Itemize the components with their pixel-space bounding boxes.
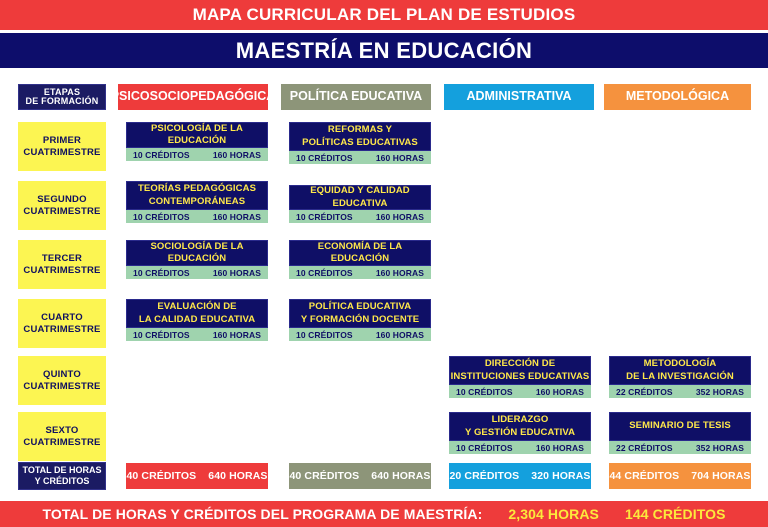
course-card-evaluacion-de-la-calidad-educativa[interactable]: EVALUACIÓN DE LA CALIDAD EDUCATIVA 10 CR… [126,299,268,341]
stage-segundo-cuatrimestre: SEGUNDO CUATRIMESTRE [18,181,106,230]
course-card-reformas-y-politicas-educativas[interactable]: REFORMAS Y POLÍTICAS EDUCATIVAS 10 CRÉDI… [289,122,431,164]
course-card-sociologia-de-la-educacion[interactable]: SOCIOLOGÍA DE LA EDUCACIÓN 10 CRÉDITOS 1… [126,240,268,279]
header-column-metodologica: METODOLÓGICA [604,84,751,110]
totals-hours: 320 HORAS [531,470,590,482]
course-hours: 160 HORAS [376,153,424,163]
totals-hours: 640 HORAS [208,470,267,482]
course-title-line1: DIRECCIÓN DE [451,358,590,370]
curriculum-map: MAPA CURRICULAR DEL PLAN DE ESTUDIOS MAE… [0,0,768,527]
stage-label-line1: TERCER [23,253,100,265]
program-totals-bar: TOTAL DE HORAS Y CRÉDITOS DEL PROGRAMA D… [0,501,768,527]
stage-label-line2: CUATRIMESTRE [23,437,100,449]
course-hours: 160 HORAS [213,268,261,278]
course-credits: 10 CRÉDITOS [296,268,353,278]
course-title-line1: ECONOMÍA DE LA EDUCACIÓN [290,241,430,266]
course-credits: 10 CRÉDITOS [456,443,513,453]
stage-label-line1: SEGUNDO [23,194,100,206]
totals-psicosociopedagogica: 40 CRÉDITOS 640 HORAS [126,463,268,489]
main-title-banner: MAPA CURRICULAR DEL PLAN DE ESTUDIOS [0,0,768,30]
stage-label-line2: CUATRIMESTRE [23,265,100,277]
course-hours: 160 HORAS [536,387,584,397]
course-hours: 160 HORAS [376,268,424,278]
program-title-banner: MAESTRÍA EN EDUCACIÓN [0,33,768,68]
stage-label-line2: CUATRIMESTRE [23,206,100,218]
course-credits: 22 CRÉDITOS [616,443,673,453]
course-title-line1: LIDERAZGO [465,414,575,426]
course-meta: 22 CRÉDITOS 352 HORAS [609,441,751,454]
course-title-line1: TEORÍAS PEDAGÓGICAS [138,183,256,195]
course-meta: 10 CRÉDITOS 160 HORAS [126,266,268,279]
totals-credits: 40 CRÉDITOS [289,470,359,482]
course-card-liderazgo-y-gestion-educativa[interactable]: LIDERAZGO Y GESTIÓN EDUCATIVA 10 CRÉDITO… [449,412,591,454]
course-meta: 10 CRÉDITOS 160 HORAS [289,266,431,279]
stage-sexto-cuatrimestre: SEXTO CUATRIMESTRE [18,412,106,461]
course-hours: 160 HORAS [213,212,261,222]
totals-credits: 20 CRÉDITOS [449,470,519,482]
main-title: MAPA CURRICULAR DEL PLAN DE ESTUDIOS [193,5,576,25]
course-meta: 22 CRÉDITOS 352 HORAS [609,385,751,398]
course-title-line2: Y GESTIÓN EDUCATIVA [465,427,575,439]
course-credits: 10 CRÉDITOS [133,268,190,278]
course-title-line1: SOCIOLOGÍA DE LA EDUCACIÓN [127,241,267,266]
course-meta: 10 CRÉDITOS 160 HORAS [126,210,268,223]
course-credits: 10 CRÉDITOS [133,150,190,160]
header-column-administrativa: ADMINISTRATIVA [444,84,594,110]
totals-metodologica: 44 CRÉDITOS 704 HORAS [609,463,751,489]
course-title-line1: REFORMAS Y [302,124,418,136]
course-card-direccion-de-instituciones-educativas[interactable]: DIRECCIÓN DE INSTITUCIONES EDUCATIVAS 10… [449,356,591,398]
course-meta: 10 CRÉDITOS 160 HORAS [289,151,431,164]
header-column-psicosociopedagogica: PSICOSOCIOPEDAGÓGICA [118,84,268,110]
stage-label-line2: CUATRIMESTRE [23,324,100,336]
course-hours: 160 HORAS [376,330,424,340]
course-hours: 160 HORAS [536,443,584,453]
totals-row-label-line2: Y CRÉDITOS [22,476,101,487]
totals-credits: 44 CRÉDITOS [609,470,679,482]
course-meta: 10 CRÉDITOS 160 HORAS [289,210,431,223]
course-title-line2: Y FORMACIÓN DOCENTE [301,314,419,326]
course-title-line1: EQUIDAD Y CALIDAD EDUCATIVA [290,185,430,210]
course-title-line2: POLÍTICAS EDUCATIVAS [302,137,418,149]
course-meta: 10 CRÉDITOS 160 HORAS [126,148,268,161]
course-title-line1: METODOLOGÍA [626,358,734,370]
stage-tercer-cuatrimestre: TERCER CUATRIMESTRE [18,240,106,289]
course-card-psicologia-de-la-educacion[interactable]: PSICOLOGÍA DE LA EDUCACIÓN 10 CRÉDITOS 1… [126,122,268,161]
stage-primer-cuatrimestre: PRIMER CUATRIMESTRE [18,122,106,171]
totals-row-label: TOTAL DE HORAS Y CRÉDITOS [18,462,106,490]
header-etapas-line2: DE FORMACIÓN [26,97,99,106]
totals-row-label-line1: TOTAL DE HORAS [22,465,101,476]
course-title-line2: CONTEMPORÁNEAS [138,196,256,208]
course-meta: 10 CRÉDITOS 160 HORAS [449,385,591,398]
course-card-metodologia-de-la-investigacion[interactable]: METODOLOGÍA DE LA INVESTIGACIÓN 22 CRÉDI… [609,356,751,398]
stage-label-line2: CUATRIMESTRE [23,147,100,159]
stage-label-line1: SEXTO [23,425,100,437]
header-column-politica-educativa: POLÍTICA EDUCATIVA [281,84,431,110]
course-credits: 10 CRÉDITOS [296,330,353,340]
stage-quinto-cuatrimestre: QUINTO CUATRIMESTRE [18,356,106,405]
course-credits: 22 CRÉDITOS [616,387,673,397]
course-hours: 352 HORAS [696,443,744,453]
course-title-line2: DE LA INVESTIGACIÓN [626,371,734,383]
course-title-line1: EVALUACIÓN DE [139,301,255,313]
header-etapas-de-formacion: ETAPAS DE FORMACIÓN [18,84,106,110]
course-card-teorias-pedagogicas-contemporaneas[interactable]: TEORÍAS PEDAGÓGICAS CONTEMPORÁNEAS 10 CR… [126,181,268,223]
course-title-line2: LA CALIDAD EDUCATIVA [139,314,255,326]
program-title: MAESTRÍA EN EDUCACIÓN [236,38,532,64]
course-card-economia-de-la-educacion[interactable]: ECONOMÍA DE LA EDUCACIÓN 10 CRÉDITOS 160… [289,240,431,279]
course-title-line1: POLÍTICA EDUCATIVA [301,301,419,313]
program-total-hours: 2,304 HORAS [508,506,599,522]
course-meta: 10 CRÉDITOS 160 HORAS [289,328,431,341]
course-credits: 10 CRÉDITOS [296,212,353,222]
course-card-politica-educativa-y-formacion-docente[interactable]: POLÍTICA EDUCATIVA Y FORMACIÓN DOCENTE 1… [289,299,431,341]
stage-label-line1: CUARTO [23,312,100,324]
stage-label-line2: CUATRIMESTRE [23,381,100,393]
stage-cuarto-cuatrimestre: CUARTO CUATRIMESTRE [18,299,106,348]
course-credits: 10 CRÉDITOS [133,330,190,340]
course-card-equidad-y-calidad-educativa[interactable]: EQUIDAD Y CALIDAD EDUCATIVA 10 CRÉDITOS … [289,185,431,223]
stage-label-line1: QUINTO [23,369,100,381]
course-title-line1: SEMINARIO DE TESIS [629,420,731,432]
course-hours: 160 HORAS [213,150,261,160]
course-title-line2: INSTITUCIONES EDUCATIVAS [451,371,590,383]
stage-label-line1: PRIMER [23,135,100,147]
totals-credits: 40 CRÉDITOS [126,470,196,482]
program-totals-label: TOTAL DE HORAS Y CRÉDITOS DEL PROGRAMA D… [42,506,482,522]
course-credits: 10 CRÉDITOS [133,212,190,222]
course-meta: 10 CRÉDITOS 160 HORAS [126,328,268,341]
course-credits: 10 CRÉDITOS [456,387,513,397]
course-hours: 352 HORAS [696,387,744,397]
course-hours: 160 HORAS [376,212,424,222]
totals-politica-educativa: 40 CRÉDITOS 640 HORAS [289,463,431,489]
course-meta: 10 CRÉDITOS 160 HORAS [449,441,591,454]
course-title-line1: PSICOLOGÍA DE LA EDUCACIÓN [127,123,267,148]
course-hours: 160 HORAS [213,330,261,340]
course-credits: 10 CRÉDITOS [296,153,353,163]
totals-hours: 640 HORAS [371,470,430,482]
totals-hours: 704 HORAS [691,470,750,482]
program-total-credits: 144 CRÉDITOS [625,506,726,522]
totals-administrativa: 20 CRÉDITOS 320 HORAS [449,463,591,489]
course-card-seminario-de-tesis[interactable]: SEMINARIO DE TESIS 22 CRÉDITOS 352 HORAS [609,412,751,454]
